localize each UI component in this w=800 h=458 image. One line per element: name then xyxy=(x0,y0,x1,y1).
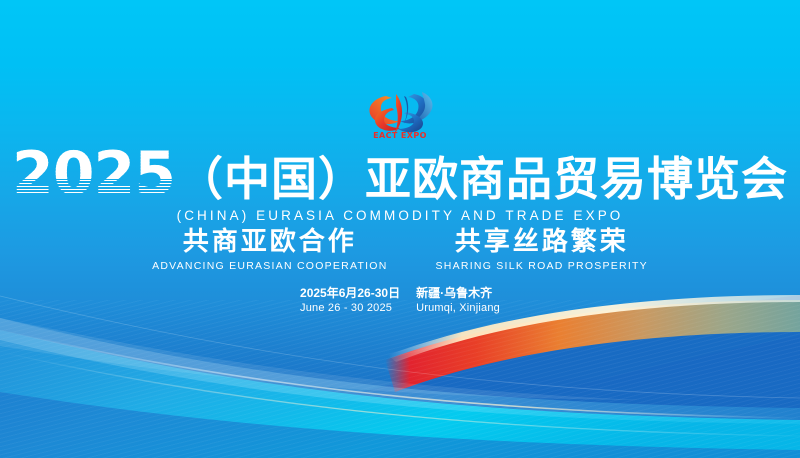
deep-blue-field-2 xyxy=(0,295,800,458)
title-english: (CHINA) EURASIA COMMODITY AND TRADE EXPO xyxy=(0,208,800,223)
cyan-sweep xyxy=(0,330,800,458)
arc-line-2 xyxy=(0,352,800,436)
lens-glow xyxy=(0,318,640,400)
slogan-1-chinese: 共商亚欧合作 xyxy=(152,228,387,257)
event-date-english: June 26 - 30 2025 xyxy=(300,301,400,316)
cyan-sweep-soft xyxy=(0,318,800,424)
slogan-1: 共商亚欧合作 ADVANCING EURASIAN COOPERATION xyxy=(152,228,387,272)
slogan-1-english: ADVANCING EURASIAN COOPERATION xyxy=(152,260,387,272)
slogan-2-english: SHARING SILK ROAD PROSPERITY xyxy=(436,260,648,272)
title-row: 2025 （中国）亚欧商品贸易博览会 xyxy=(0,148,800,204)
event-date-chinese: 2025年6月26-30日 xyxy=(300,285,400,301)
slogan-2-chinese: 共享丝路繁荣 xyxy=(436,228,648,257)
deep-blue-field xyxy=(250,336,800,458)
event-place: 新疆·乌鲁木齐 Urumqi, Xinjiang xyxy=(416,285,500,316)
slogan-group: 共商亚欧合作 ADVANCING EURASIAN COOPERATION 共享… xyxy=(0,228,800,272)
diagonal-texture xyxy=(0,300,800,458)
event-place-chinese: 新疆·乌鲁木齐 xyxy=(416,285,500,301)
arc-line-1 xyxy=(0,330,800,418)
title-block: 2025 （中国）亚欧商品贸易博览会 (CHINA) EURASIA COMMO… xyxy=(0,148,800,223)
event-date: 2025年6月26-30日 June 26 - 30 2025 xyxy=(300,285,400,316)
event-place-english: Urumqi, Xinjiang xyxy=(416,301,500,316)
event-meta: 2025年6月26-30日 June 26 - 30 2025 新疆·乌鲁木齐 … xyxy=(0,285,800,316)
logo-wordmark: EACT EXPO xyxy=(373,131,427,140)
expo-banner: EACT EXPO 2025 （中国）亚欧商品贸易博览会 (CHINA) EUR… xyxy=(0,0,800,458)
event-year: 2025 xyxy=(12,144,177,204)
eact-expo-emblem-icon: EACT EXPO xyxy=(352,88,448,142)
expo-logo: EACT EXPO xyxy=(352,88,448,142)
title-chinese: （中国）亚欧商品贸易博览会 xyxy=(177,156,788,204)
lower-left-shade xyxy=(0,392,800,458)
slogan-2: 共享丝路繁荣 SHARING SILK ROAD PROSPERITY xyxy=(436,228,648,272)
